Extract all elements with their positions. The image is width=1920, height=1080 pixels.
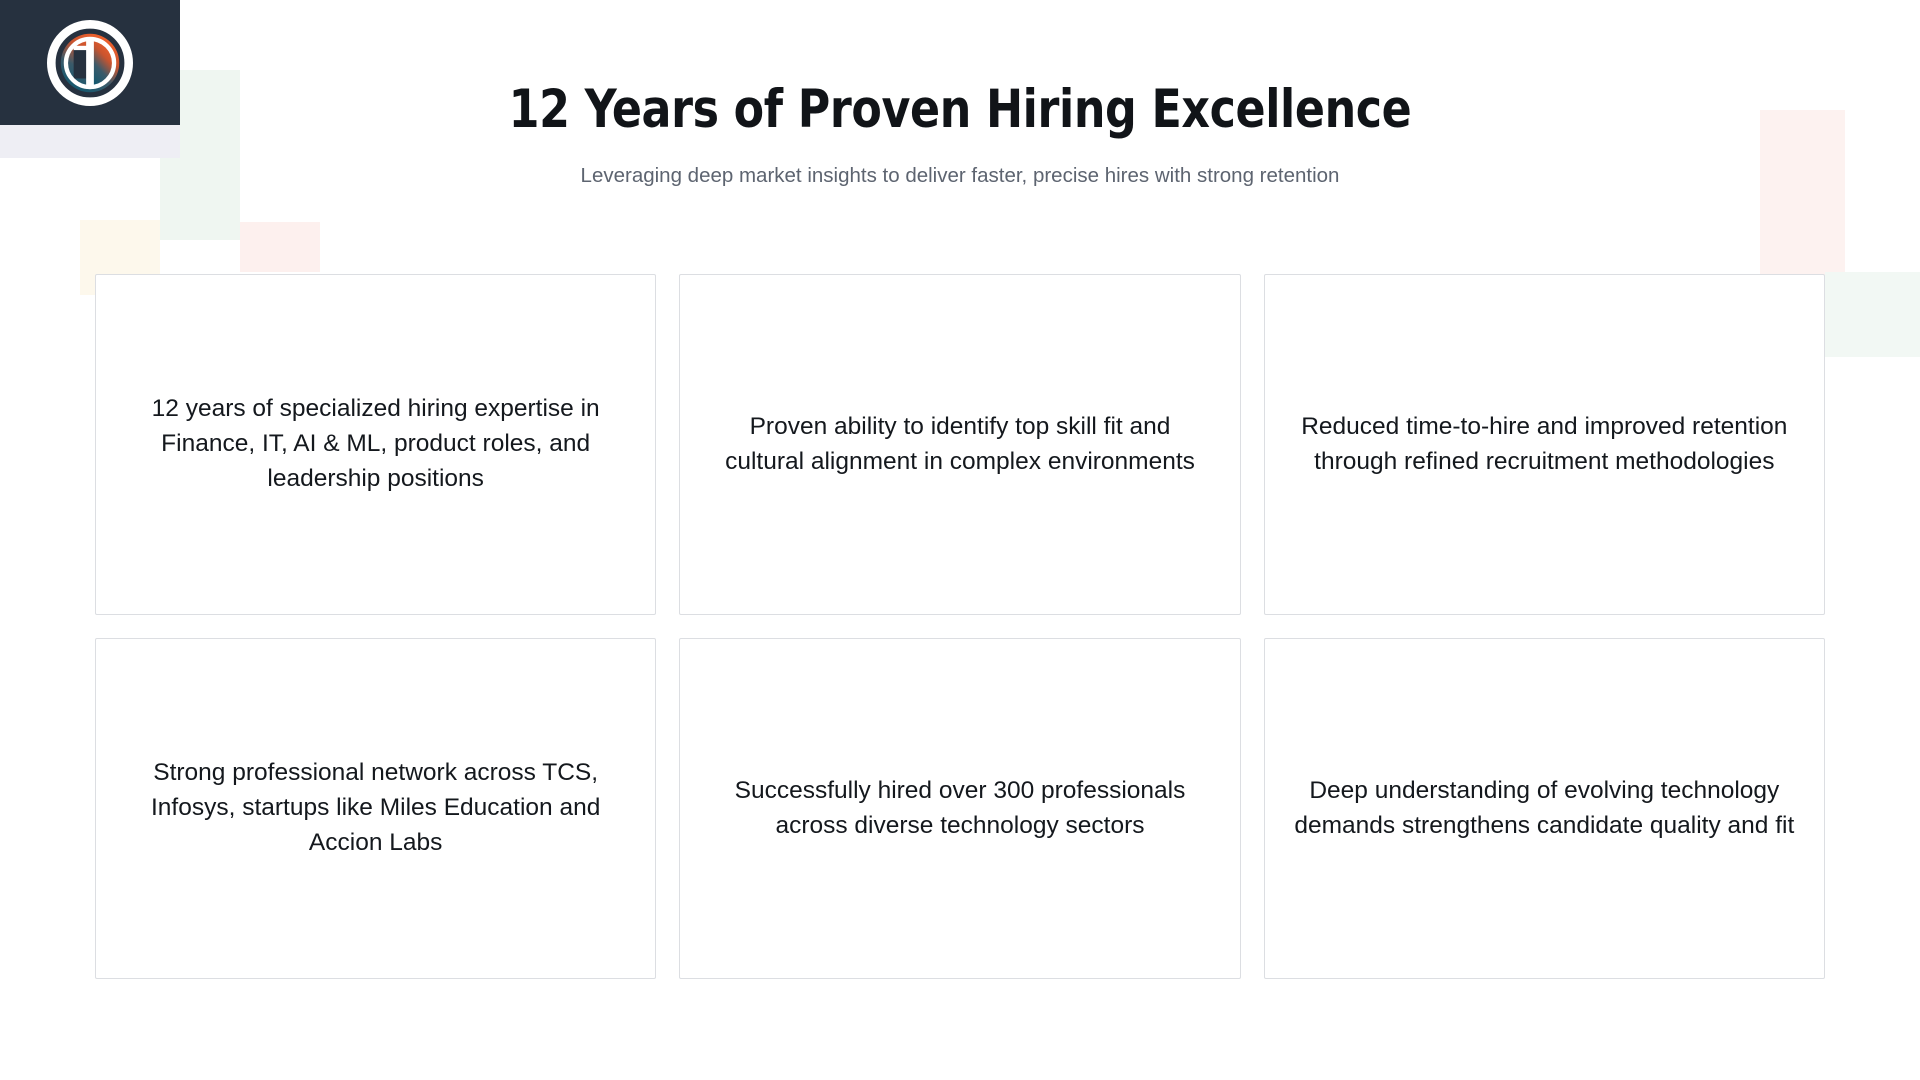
decor-block-green-right <box>1825 272 1920 357</box>
highlight-card-text: Strong professional network across TCS, … <box>124 756 627 860</box>
highlight-card-text: Successfully hired over 300 professional… <box>708 774 1211 844</box>
highlight-card[interactable]: 12 years of specialized hiring expertise… <box>95 274 656 615</box>
brand-logo-panel <box>0 0 180 125</box>
highlight-card-text: Proven ability to identify top skill fit… <box>708 410 1211 480</box>
highlight-card[interactable]: Successfully hired over 300 professional… <box>679 638 1240 979</box>
page-title: 12 Years of Proven Hiring Excellence <box>67 80 1853 139</box>
dt-circular-monogram-logo <box>47 20 133 106</box>
highlight-card[interactable]: Deep understanding of evolving technolog… <box>1264 638 1825 979</box>
decor-block-pink-left <box>240 222 320 272</box>
slide-canvas: 12 Years of Proven Hiring Excellence Lev… <box>0 0 1920 1080</box>
highlights-card-grid: 12 years of specialized hiring expertise… <box>95 274 1825 979</box>
highlight-card[interactable]: Proven ability to identify top skill fit… <box>679 274 1240 615</box>
highlight-card-text: Deep understanding of evolving technolog… <box>1293 774 1796 844</box>
highlight-card-text: Reduced time-to-hire and improved retent… <box>1293 410 1796 480</box>
highlight-card[interactable]: Reduced time-to-hire and improved retent… <box>1264 274 1825 615</box>
header-block: 12 Years of Proven Hiring Excellence Lev… <box>0 80 1920 190</box>
highlight-card[interactable]: Strong professional network across TCS, … <box>95 638 656 979</box>
page-subtitle: Leveraging deep market insights to deliv… <box>0 163 1920 190</box>
highlight-card-text: 12 years of specialized hiring expertise… <box>124 392 627 496</box>
